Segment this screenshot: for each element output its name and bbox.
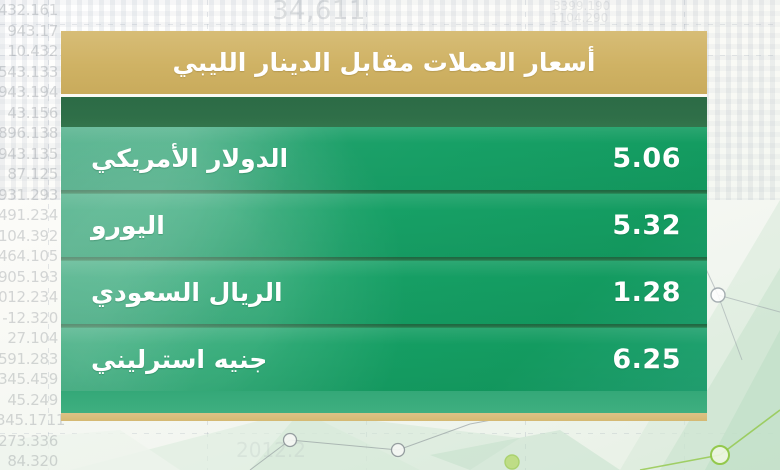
ticker-number: 432.161 (0, 0, 60, 21)
rate-value: 1.28 (612, 277, 681, 308)
ticker-number: 931.293 (0, 185, 60, 206)
ticker-number: 273.336 (0, 431, 60, 452)
rate-value: 6.25 (612, 344, 681, 375)
ticker-number: 943.135 (0, 144, 60, 165)
ticker-number: 43.156 (0, 103, 60, 124)
table-row[interactable]: 6.25 جنيه استرليني (61, 328, 707, 391)
ticker-number: 10.432 (0, 41, 60, 62)
table-row[interactable]: 5.06 الدولار الأمريكي (61, 127, 707, 190)
ticker-number: 943.194 (0, 82, 60, 103)
ticker-number: 896.138 (0, 123, 60, 144)
ticker-number: 104.392 (0, 226, 60, 247)
rates-table: 5.06 الدولار الأمريكي 5.32 اليورو 1.28 ا… (61, 97, 707, 413)
ticker-number: 27.104 (0, 328, 60, 349)
ticker-number: 591.283 (0, 349, 60, 370)
ticker-number: 905.193 (0, 267, 60, 288)
ticker-number: 45.249 (0, 390, 60, 411)
currency-rates-card: أسعار العملات مقابل الدينار الليبي 5.06 … (61, 31, 707, 421)
rate-value: 5.06 (612, 143, 681, 174)
ticker-number: 491.234 (0, 205, 60, 226)
ticker-number: 345.459 (0, 369, 60, 390)
ticker-number: -12.320 (0, 308, 60, 329)
card-header: أسعار العملات مقابل الدينار الليبي (61, 31, 707, 94)
card-footer-bar (61, 413, 707, 421)
ticker-number: 84.320 (0, 451, 60, 470)
rate-value: 5.32 (612, 210, 681, 241)
ticker-number: 543.133 (0, 62, 60, 83)
screenshot-canvas: 432.161943.1710.432543.133943.19443.1568… (0, 0, 780, 470)
table-bottom-band (61, 391, 707, 413)
ticker-number: 464.105 (0, 246, 60, 267)
ticker-number: 345.1711 (0, 410, 60, 431)
ticker-number: 87.125 (0, 164, 60, 185)
table-row[interactable]: 1.28 الريال السعودي (61, 261, 707, 324)
currency-name: الدولار الأمريكي (91, 144, 288, 173)
currency-name: جنيه استرليني (91, 345, 267, 374)
background-top-right-number-2: 1104.290 (551, 11, 608, 25)
background-large-number: 34,611 (272, 0, 366, 26)
page-title: أسعار العملات مقابل الدينار الليبي (173, 48, 596, 77)
table-row[interactable]: 5.32 اليورو (61, 194, 707, 257)
background-ticker-numbers: 432.161943.1710.432543.133943.19443.1568… (0, 0, 60, 470)
currency-name: الريال السعودي (91, 278, 283, 307)
ticker-number: 012.234 (0, 287, 60, 308)
table-top-band (61, 97, 707, 127)
background-bottom-number: 2012.2 (236, 438, 306, 462)
currency-name: اليورو (91, 211, 165, 240)
ticker-number: 943.17 (0, 21, 60, 42)
